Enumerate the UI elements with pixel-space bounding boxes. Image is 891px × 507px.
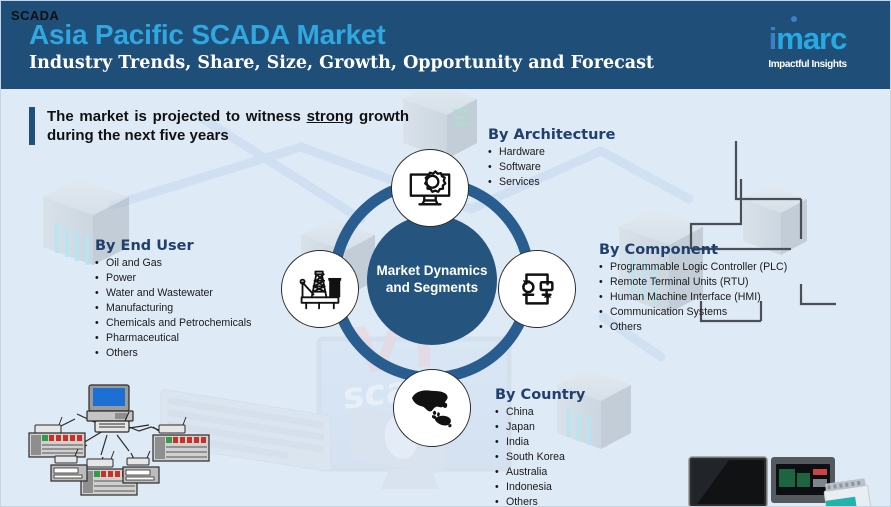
page-subtitle: Industry Trends, Share, Size, Growth, Op… [29, 53, 654, 73]
asia-pacific-map-icon [407, 386, 457, 430]
list-item: Others [599, 320, 787, 335]
logo-tagline: Impactful Insights [745, 59, 870, 70]
oil-rig-icon [296, 266, 344, 312]
segment-list-component: Programmable Logic Controller (PLC) Remo… [599, 260, 787, 335]
list-item: Others [95, 346, 251, 361]
list-item: Power [95, 271, 251, 286]
list-item: China [495, 405, 585, 420]
list-item: Services [488, 175, 615, 190]
scada-diagram-label: SCADA [11, 8, 59, 23]
logo-wordmark: imarc [745, 23, 870, 54]
hub-center-label: Market Dynamics and Segments [367, 263, 497, 297]
list-item: Human Machine Interface (HMI) [599, 290, 787, 305]
market-callout: The market is projected to witness stron… [29, 107, 409, 145]
segment-block-country: By Country China Japan India South Korea… [495, 387, 585, 507]
segment-block-architecture: By Architecture Hardware Software Servic… [488, 127, 615, 190]
list-item: Chemicals and Petrochemicals [95, 316, 251, 331]
callout-text-before: The market is projected to witness [47, 108, 307, 125]
segment-block-component: By Component Programmable Logic Controll… [599, 242, 787, 335]
list-item: Remote Terminal Units (RTU) [599, 275, 787, 290]
segment-list-country: China Japan India South Korea Australia … [495, 405, 585, 507]
segment-icon-component[interactable] [498, 250, 576, 328]
list-item: Communication Systems [599, 305, 787, 320]
list-item: Others [495, 495, 585, 507]
list-item: Indonesia [495, 480, 585, 495]
list-item: South Korea [495, 450, 585, 465]
segment-list-architecture: Hardware Software Services [488, 145, 615, 190]
segment-title-country: By Country [495, 387, 585, 403]
logo-word-rest: marc [776, 21, 846, 56]
scada-network-diagram [19, 381, 219, 503]
segment-icon-country[interactable] [393, 369, 471, 447]
list-item: Hardware [488, 145, 615, 160]
list-item: Oil and Gas [95, 256, 251, 271]
segment-title-enduser: By End User [95, 238, 251, 254]
segment-title-component: By Component [599, 242, 787, 258]
callout-highlight-link[interactable]: strong [307, 108, 354, 125]
list-item: India [495, 435, 585, 450]
list-item: Australia [495, 465, 585, 480]
list-item: Japan [495, 420, 585, 435]
segment-icon-enduser[interactable] [281, 250, 359, 328]
imarc-logo[interactable]: imarc Impactful Insights [745, 15, 870, 77]
list-item: Programmable Logic Controller (PLC) [599, 260, 787, 275]
header-bar: Asia Pacific SCADA Market Industry Trend… [1, 1, 891, 89]
list-item: Software [488, 160, 615, 175]
segment-icon-architecture[interactable] [391, 149, 469, 227]
page-title: Asia Pacific SCADA Market [29, 19, 386, 51]
list-item: Water and Wastewater [95, 286, 251, 301]
monitor-gear-icon [407, 165, 453, 211]
segment-block-enduser: By End User Oil and Gas Power Water and … [95, 238, 251, 361]
hub-center: Market Dynamics and Segments [367, 215, 497, 345]
list-item: Pharmaceutical [95, 331, 251, 346]
list-item: Manufacturing [95, 301, 251, 316]
segment-list-enduser: Oil and Gas Power Water and Wastewater M… [95, 256, 251, 361]
market-callout-text: The market is projected to witness stron… [47, 107, 409, 145]
infographic-canvas: Asia Pacific SCADA Market Industry Trend… [0, 0, 891, 507]
segment-title-architecture: By Architecture [488, 127, 615, 143]
process-flow-icon [514, 266, 560, 312]
